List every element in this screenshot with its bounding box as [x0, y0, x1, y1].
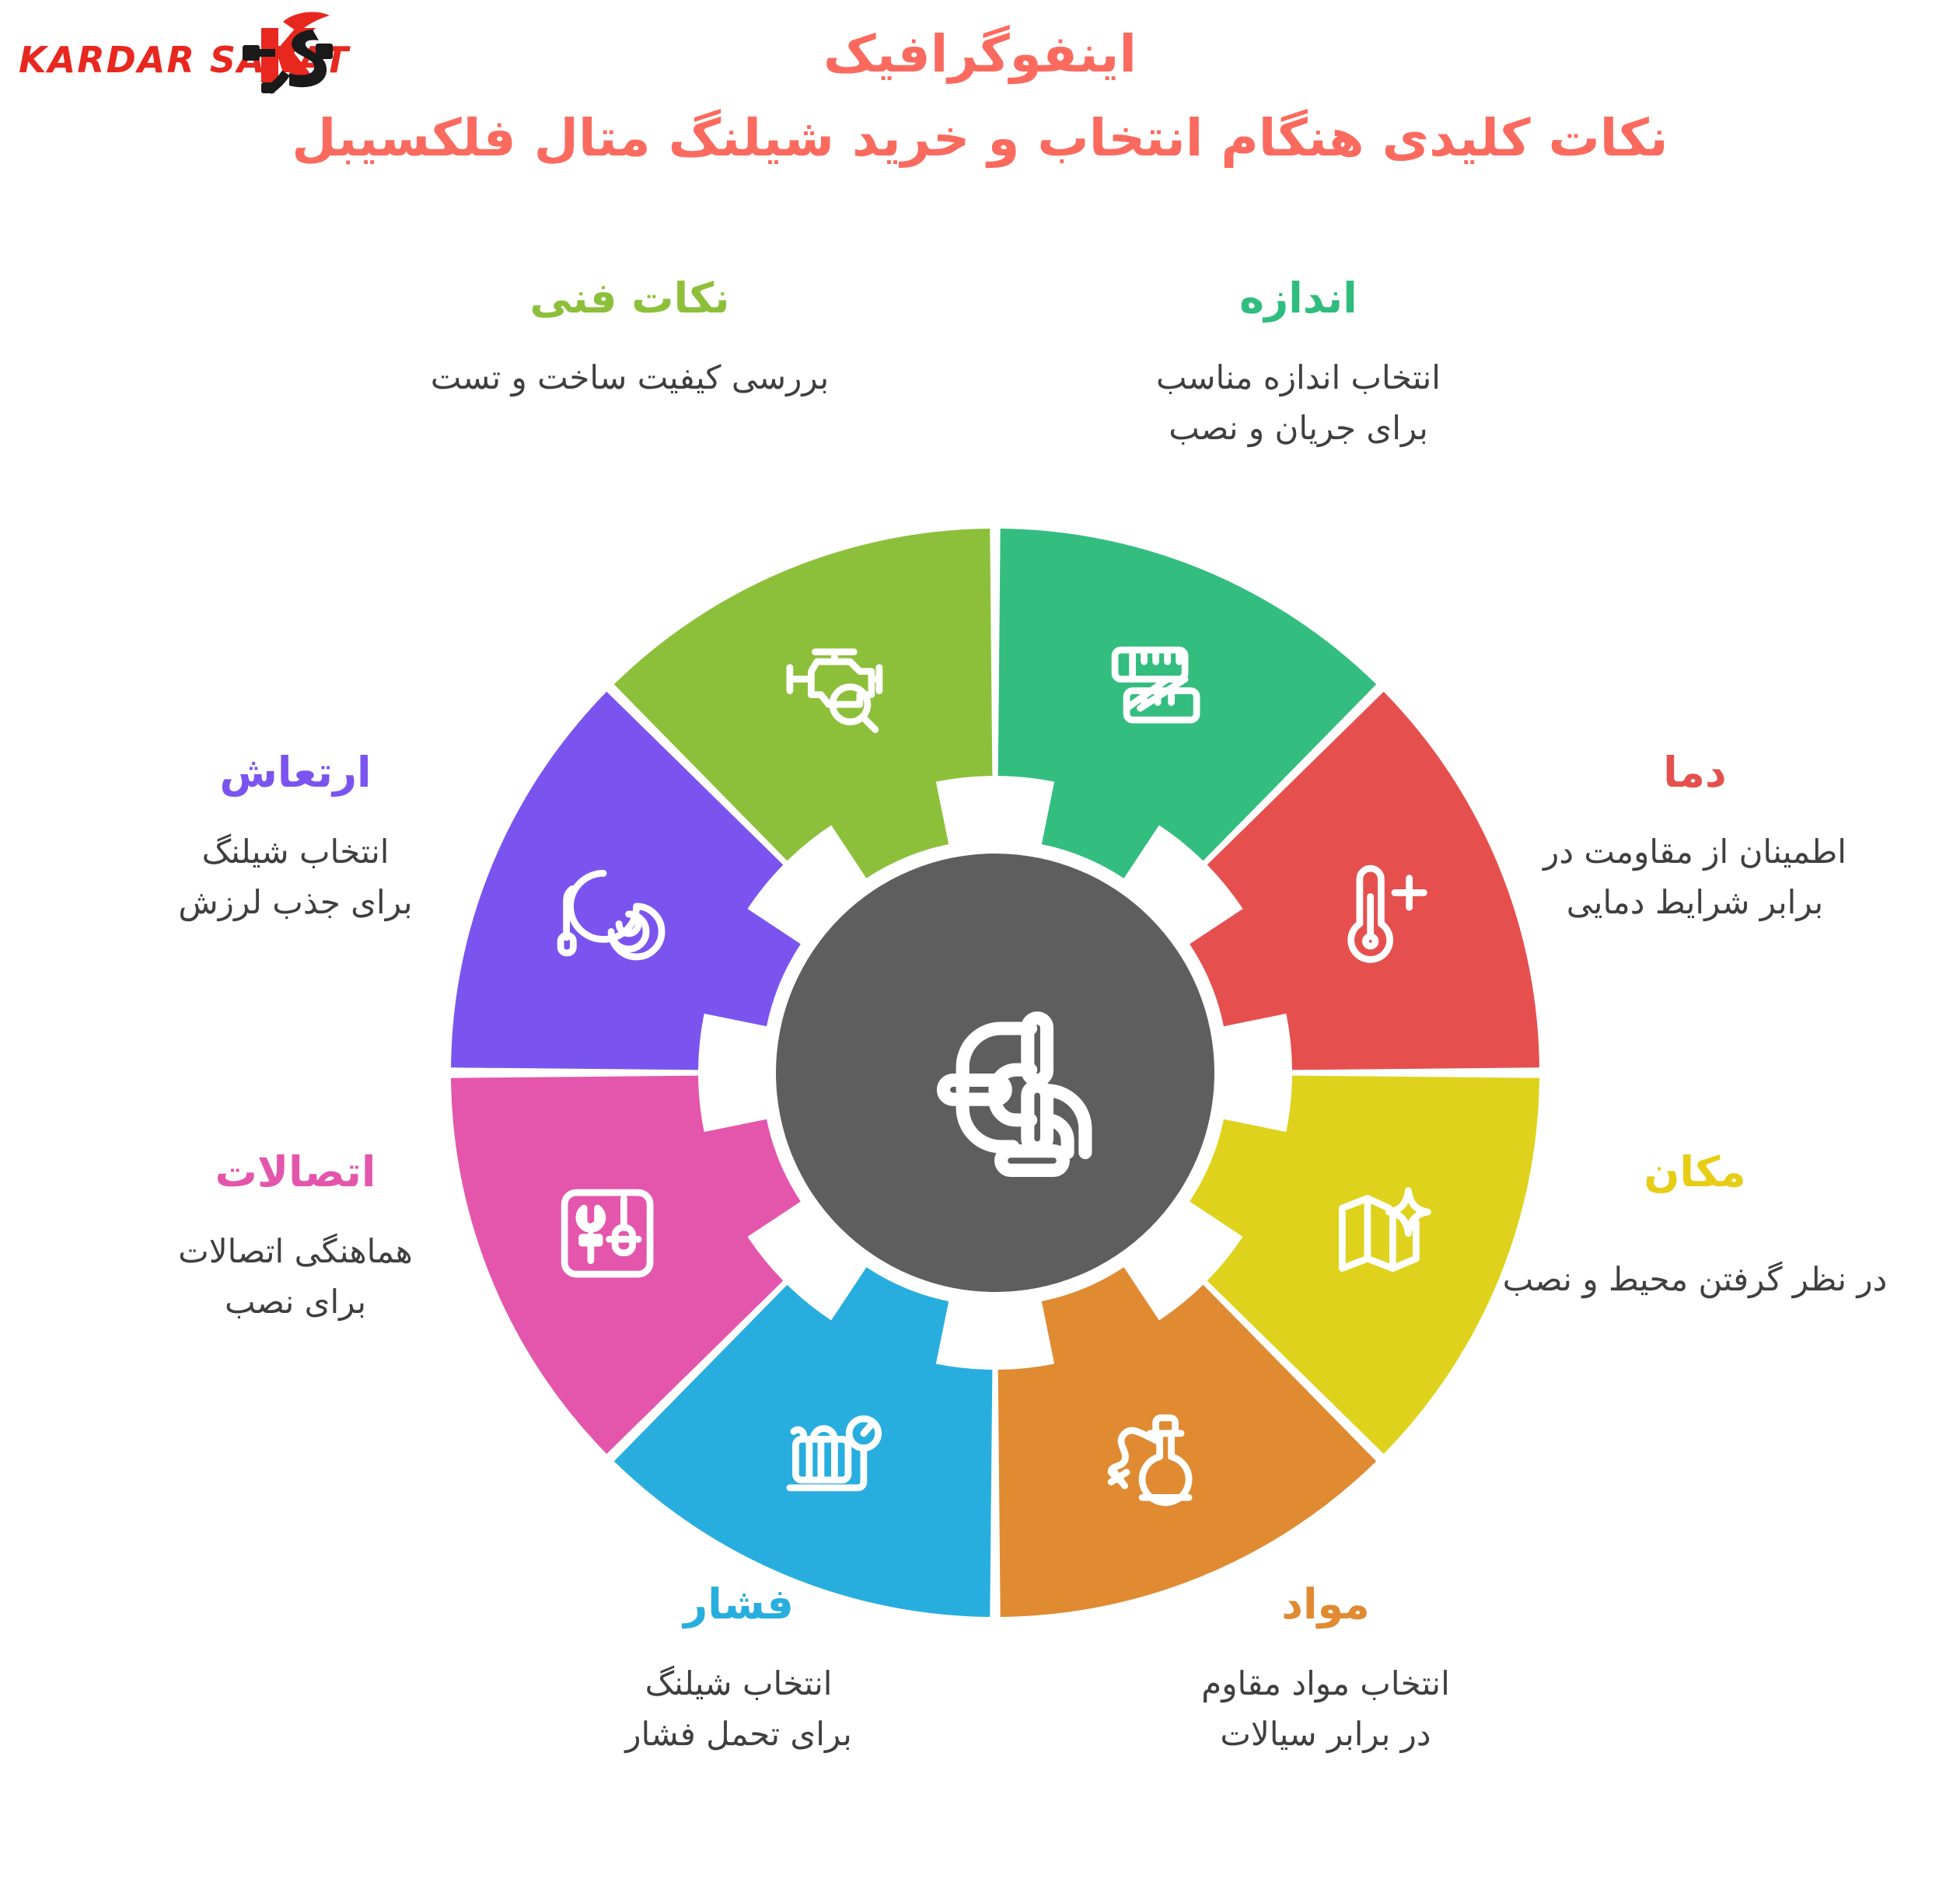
- label-title-size: اندازه: [1081, 274, 1516, 324]
- label-title-technical: نکات فنی: [365, 274, 894, 324]
- label-block-size: اندازه انتخاب اندازه مناسب برای جریان و …: [1081, 274, 1516, 453]
- label-block-technical: نکات فنی بررسی کیفیت ساخت و تست: [365, 274, 894, 403]
- label-desc-material-line2: در برابر سیالات: [1057, 1709, 1594, 1759]
- title-line-1: اینفوگرافیک: [0, 22, 1960, 87]
- label-desc-technical: بررسی کیفیت ساخت و تست: [365, 352, 894, 403]
- infographic-wheel: [451, 529, 1539, 1617]
- label-desc-size-line2: برای جریان و نصب: [1081, 403, 1516, 453]
- label-desc-pressure-line1: انتخاب شیلنگ: [466, 1658, 1011, 1709]
- page-title: اینفوگرافیک نکات کلیدی هنگام انتخاب و خر…: [0, 22, 1960, 173]
- label-desc-size-line1: انتخاب اندازه مناسب: [1081, 352, 1516, 403]
- title-line-2: نکات کلیدی هنگام انتخاب و خرید شیلنگ متا…: [0, 104, 1960, 172]
- label-desc-material-line1: انتخاب مواد مقاوم: [1057, 1658, 1594, 1709]
- label-desc-pressure-line2: برای تحمل فشار: [466, 1709, 1011, 1759]
